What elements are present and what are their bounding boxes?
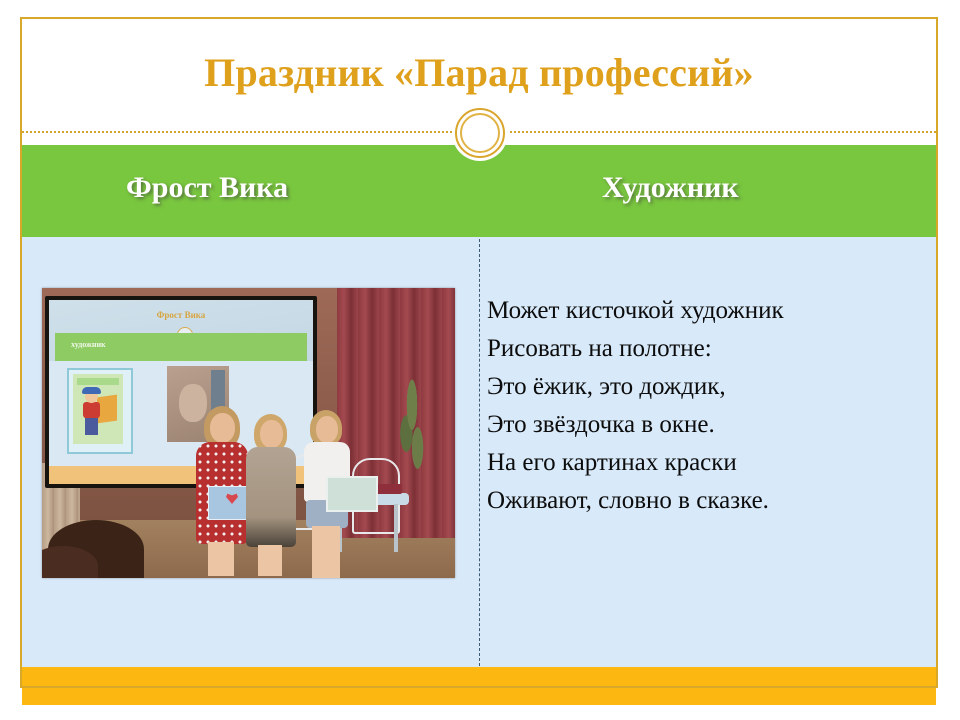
photo-girl (298, 410, 356, 578)
gold-ring-ornament-icon (452, 105, 508, 161)
girl-legs (312, 526, 340, 578)
footer-band (22, 667, 936, 705)
poem-line: Это звёздочка в окне. (487, 406, 927, 444)
ring-inner-circle (460, 113, 500, 153)
profession-label: Художник (602, 171, 739, 205)
card-caption-bar (77, 378, 119, 385)
slide-title: Праздник «Парад профессий» (22, 49, 936, 96)
poem-line: На его картинах краски (487, 444, 927, 482)
easel-icon (97, 395, 117, 424)
painter-cap (82, 387, 101, 394)
poem-line: Может кисточкой художник (487, 292, 927, 330)
projected-illustration-card (67, 368, 133, 454)
student-name-label: Фрост Вика (126, 171, 288, 205)
photo-girl (242, 414, 300, 576)
painter-body (83, 402, 100, 418)
painter-legs (85, 417, 98, 435)
column-divider (479, 239, 480, 666)
poem-line: Это ёжик, это дождик, (487, 368, 927, 406)
girl-head (316, 416, 338, 443)
projected-role-label: художник (71, 340, 106, 349)
girl-head (260, 420, 283, 448)
stage-photo: Фрост Вика художник (42, 288, 455, 578)
girl-dress (246, 447, 296, 547)
girl-head (210, 413, 235, 443)
girl-legs (258, 545, 282, 576)
photo-plant (398, 376, 426, 472)
poem-line: Оживают, словно в сказке. (487, 482, 927, 520)
girl-legs (208, 542, 234, 576)
poem-text-block: Может кисточкой художник Рисовать на пол… (487, 292, 927, 520)
slide-canvas: Праздник «Парад профессий» Фрост Вика Ху… (0, 0, 960, 720)
photo-table-leg (394, 504, 398, 552)
projected-slide-title: Фрост Вика (49, 310, 313, 320)
poem-line: Рисовать на полотне: (487, 330, 927, 368)
girl-held-board (326, 476, 378, 512)
